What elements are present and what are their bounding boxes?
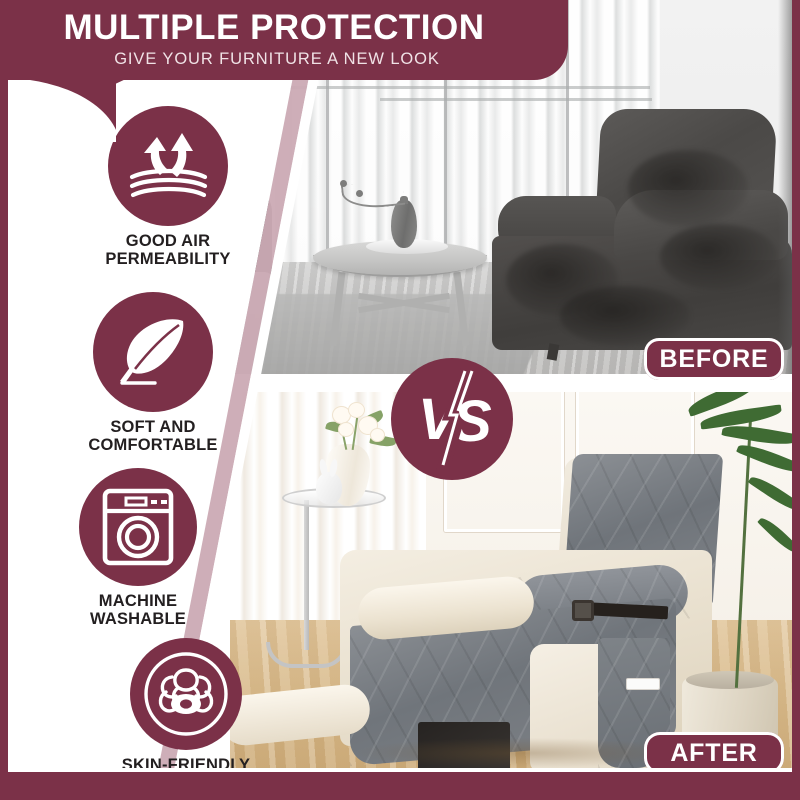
content-area: GOOD AIR PERMEABILITY SOFT AND COMFORTAB…	[8, 0, 792, 770]
decor-vase	[391, 200, 417, 248]
window-mullion	[380, 98, 652, 101]
flower-bloom	[348, 402, 365, 418]
side-table-base	[266, 642, 348, 668]
bottom-border-highlight	[8, 768, 792, 772]
decor-bud	[356, 190, 363, 197]
feature-soft-and-comfortable: SOFT AND COMFORTABLE	[63, 292, 243, 454]
versus-emblem: V S	[391, 358, 513, 480]
floor-shadow	[358, 738, 688, 768]
header-banner: MULTIPLE PROTECTION GIVE YOUR FURNITURE …	[8, 0, 568, 80]
feature-label: MACHINE WASHABLE	[48, 593, 228, 628]
feature-icon-circle	[93, 292, 213, 412]
remote-in-pocket	[626, 678, 660, 690]
dirt-stain	[560, 286, 690, 346]
feature-label: SOFT AND COMFORTABLE	[63, 419, 243, 454]
after-badge: AFTER	[644, 732, 784, 770]
before-badge: BEFORE	[644, 338, 784, 380]
air-permeability-icon	[127, 129, 209, 203]
infographic-canvas: GOOD AIR PERMEABILITY SOFT AND COMFORTAB…	[0, 0, 800, 800]
dirt-stain	[660, 224, 778, 290]
bunny-figurine	[316, 472, 342, 504]
flower-bloom	[370, 428, 385, 442]
feature-skin-friendly: SKIN-FRIENDLY	[96, 638, 276, 770]
header-curve-decoration	[8, 80, 116, 142]
feature-machine-washable: MACHINE WASHABLE	[48, 468, 228, 628]
feature-icon-circle	[79, 468, 197, 586]
versus-lightning-icon: V S	[400, 367, 504, 471]
page-title: MULTIPLE PROTECTION	[8, 8, 540, 48]
after-photo	[230, 392, 792, 770]
feature-icon-circle	[130, 638, 242, 750]
decor-bud	[340, 180, 347, 187]
strap-buckle	[572, 600, 594, 621]
bottom-border-bar	[0, 770, 800, 800]
page-subtitle: GIVE YOUR FURNITURE A NEW LOOK	[8, 50, 546, 69]
cotton-flower-icon	[138, 646, 234, 742]
side-table-stem	[304, 500, 309, 650]
feather-icon	[111, 313, 195, 391]
flower-bloom	[338, 422, 354, 437]
feature-icon-circle	[108, 106, 228, 226]
dirt-stain	[628, 150, 748, 226]
photo-edge-shade	[778, 0, 792, 374]
feature-label: GOOD AIR PERMEABILITY	[78, 233, 258, 268]
washing-machine-icon	[100, 487, 176, 567]
